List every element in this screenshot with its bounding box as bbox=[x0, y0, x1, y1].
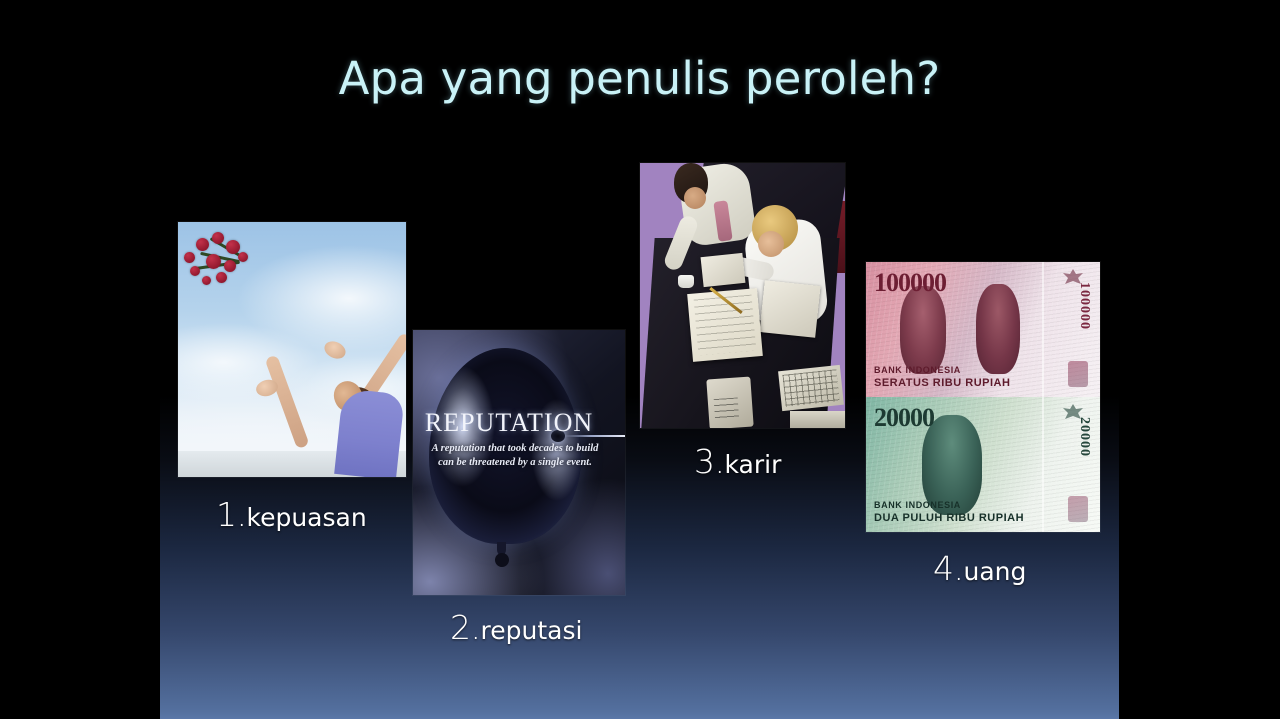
caption-uang: 4.uang bbox=[933, 549, 1026, 588]
keyboard-icon bbox=[778, 365, 844, 411]
reputation-overlay-title: REPUTATION bbox=[413, 408, 625, 438]
caption-karir: 3.karir bbox=[694, 442, 781, 481]
document-sheet-2 bbox=[759, 280, 820, 338]
caption-number-1: 1. bbox=[216, 495, 247, 534]
banknote-denomination-side-20000: 20000 bbox=[1076, 417, 1092, 457]
standing-worker-face bbox=[684, 187, 706, 209]
seated-worker-face bbox=[758, 231, 784, 257]
banknote-20000: 20000 20000 BANK INDONESIA DUA PULUH RIB… bbox=[866, 397, 1100, 532]
caption-label-4: uang bbox=[964, 557, 1027, 586]
rose-bouquet-icon bbox=[182, 226, 274, 294]
balloon-knot bbox=[497, 542, 506, 555]
banknote-seal-20000 bbox=[1068, 496, 1088, 522]
banknote-value-line-20000: DUA PULUH RIBU RUPIAH bbox=[874, 512, 1024, 524]
caption-reputasi: 2.reputasi bbox=[450, 608, 582, 647]
banknote-bank-line-20000: BANK INDONESIA bbox=[874, 500, 961, 510]
caption-number-2: 2. bbox=[450, 608, 481, 647]
banknote-value-line-100000: SERATUS RIBU RUPIAH bbox=[874, 377, 1010, 389]
banknote-seal-100000 bbox=[1068, 361, 1088, 387]
rupiah-banknotes-photo: 100000 100000 BANK INDONESIA SERATUS RIB… bbox=[866, 262, 1100, 532]
page-title: Apa yang penulis peroleh? bbox=[160, 52, 1119, 105]
banknote-denomination-100000: 100000 bbox=[874, 268, 946, 298]
caption-number-4: 4. bbox=[933, 549, 964, 588]
caption-number-3: 3. bbox=[694, 442, 725, 481]
presentation-slide: Apa yang penulis peroleh? bbox=[160, 0, 1119, 719]
banknote-portrait-hatta bbox=[976, 284, 1020, 374]
office-workers-desk-photo bbox=[640, 163, 845, 428]
woman-throwing-roses-photo bbox=[178, 222, 406, 477]
caption-label-1: kepuasan bbox=[247, 503, 367, 532]
woman-torso bbox=[334, 388, 405, 477]
slide-viewport: Apa yang penulis peroleh? bbox=[0, 0, 1280, 719]
caption-kepuasan: 1.kepuasan bbox=[216, 495, 367, 534]
desk-phone-icon bbox=[706, 377, 753, 428]
reputation-balloon-photo: REPUTATION A reputation that took decade… bbox=[413, 330, 625, 595]
banknote-denomination-20000: 20000 bbox=[874, 403, 934, 433]
document-sheet-1 bbox=[701, 253, 746, 287]
banknote-100000: 100000 100000 BANK INDONESIA SERATUS RIB… bbox=[866, 262, 1100, 397]
letterbox-left bbox=[0, 0, 160, 719]
computer-monitor bbox=[790, 411, 845, 428]
reputation-overlay-quote: A reputation that took decades to build … bbox=[423, 442, 607, 470]
banknote-portrait-sukarno bbox=[900, 286, 946, 374]
banknote-watermark-strip-20000 bbox=[1042, 397, 1044, 532]
caption-label-3: karir bbox=[725, 450, 782, 479]
banknote-watermark-strip-100000 bbox=[1042, 262, 1044, 397]
banknote-bank-line-100000: BANK INDONESIA bbox=[874, 365, 961, 375]
coffee-cup bbox=[678, 275, 694, 288]
letterbox-right bbox=[1119, 0, 1280, 719]
banknote-denomination-side-100000: 100000 bbox=[1076, 282, 1092, 330]
caption-label-2: reputasi bbox=[481, 616, 583, 645]
